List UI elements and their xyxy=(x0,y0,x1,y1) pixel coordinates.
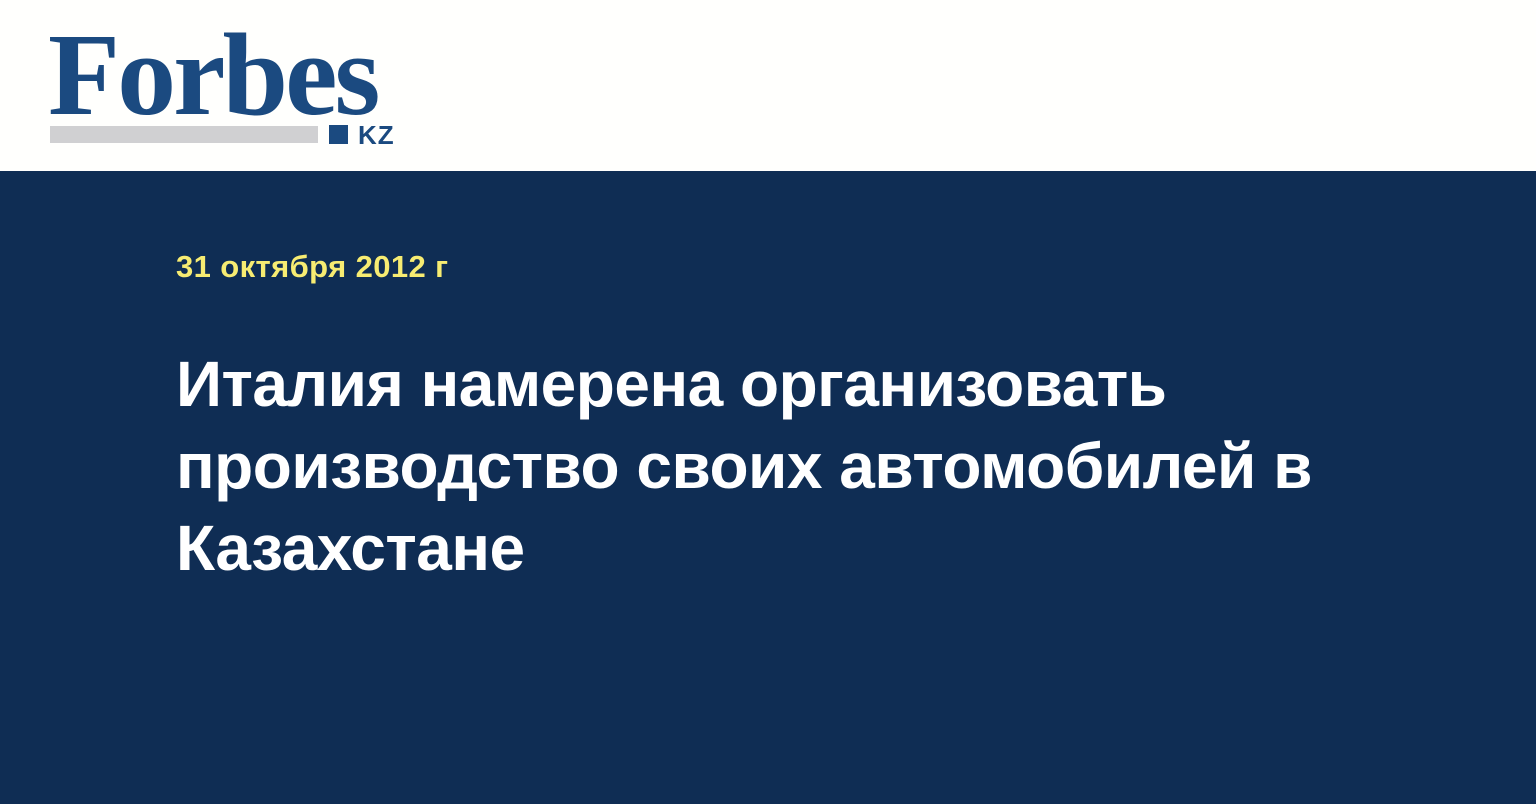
site-header: Forbes KZ xyxy=(0,0,1536,171)
article-title: Италия намерена организовать производств… xyxy=(176,343,1376,589)
logo-underbar xyxy=(50,126,318,143)
article-hero-page: Forbes KZ 31 октября 2012 г Италия намер… xyxy=(0,0,1536,804)
logo-square-icon xyxy=(329,125,348,144)
logo-wordmark-text: Forbes xyxy=(48,16,377,134)
logo-kz-text: KZ xyxy=(358,122,395,148)
forbes-kz-logo[interactable]: Forbes KZ xyxy=(48,24,414,148)
article-date: 31 октября 2012 г xyxy=(176,249,448,285)
article-hero: 31 октября 2012 г Италия намерена органи… xyxy=(0,171,1536,804)
